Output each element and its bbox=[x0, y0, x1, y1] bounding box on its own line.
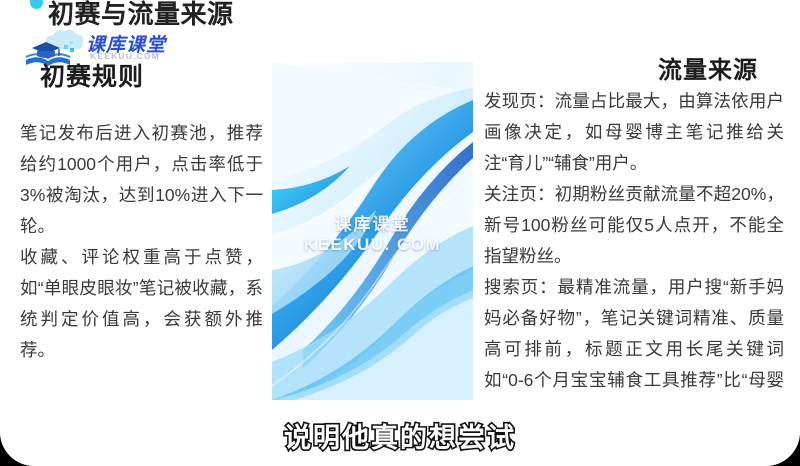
bullet-dot-icon bbox=[30, 0, 43, 9]
left-paragraph-2: 收藏、评论权重高于点赞，如“单眼皮眼妆”笔记被收藏，系统判定价值高，会获额外推荐… bbox=[20, 242, 263, 366]
left-section-body: 笔记发布后进入初赛池，推荐给约1000个用户，点击率低于3%被淘汰，达到10%进… bbox=[20, 118, 263, 366]
right-paragraph-2: 关注页：初期粉丝贡献流量不超20%，新号100粉丝可能仅5人点开，不能全指望粉丝… bbox=[484, 179, 784, 272]
right-paragraph-1: 发现页：流量占比最大，由算法依用户画像决定，如母婴博主笔记推给关注“育儿”“辅食… bbox=[484, 86, 784, 179]
subtitle-caption: 说明他真的想尝试 bbox=[0, 416, 800, 455]
center-illustration: 课库课堂 KEEKUU. COM bbox=[272, 62, 473, 400]
left-section-heading: 初赛规则 bbox=[40, 57, 144, 93]
right-section-heading: 流量来源 bbox=[658, 50, 758, 85]
abstract-blue-wave-graphic bbox=[272, 62, 473, 400]
right-section-body: 发现页：流量占比最大，由算法依用户画像决定，如母婴博主笔记推给关注“育儿”“辅食… bbox=[484, 86, 784, 427]
left-paragraph-1: 笔记发布后进入初赛池，推荐给约1000个用户，点击率低于3%被淘汰，达到10%进… bbox=[20, 118, 263, 242]
slide-card: 初赛与流量来源 课库课堂 KEEKUU.COM 初赛规则 bbox=[0, 0, 800, 466]
screen-root: 初赛与流量来源 课库课堂 KEEKUU.COM 初赛规则 bbox=[0, 0, 800, 466]
caption-bar: 说明他真的想尝试 bbox=[0, 402, 800, 466]
